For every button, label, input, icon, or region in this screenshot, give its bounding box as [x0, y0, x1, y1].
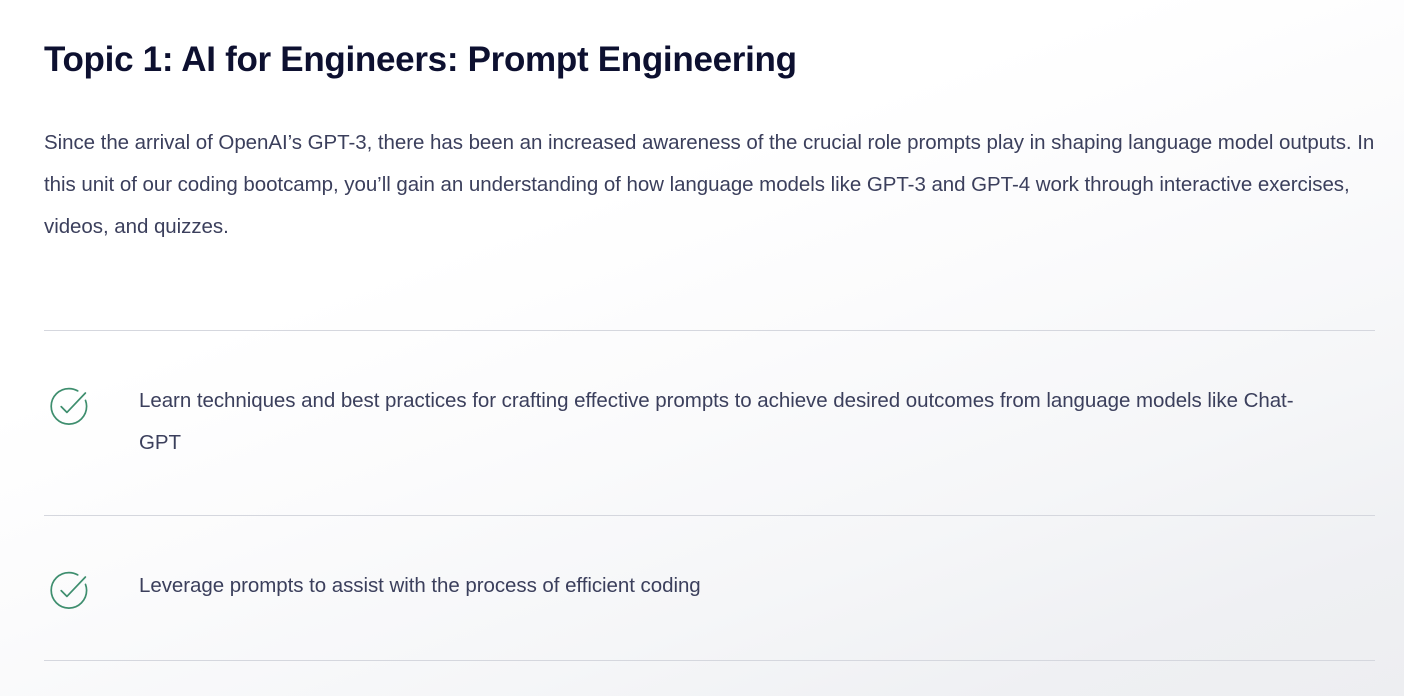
- divider-middle: [44, 515, 1375, 516]
- outcome-label: Leverage prompts to assist with the proc…: [139, 565, 1299, 607]
- check-circle-icon: [44, 382, 92, 430]
- topic-description: Since the arrival of OpenAI’s GPT-3, the…: [44, 122, 1379, 248]
- outcome-item-1: Learn techniques and best practices for …: [44, 380, 1375, 464]
- check-circle-icon: [44, 566, 92, 614]
- topic-panel: Topic 1: AI for Engineers: Prompt Engine…: [0, 0, 1404, 696]
- outcome-item-2: Leverage prompts to assist with the proc…: [44, 564, 1375, 614]
- divider-top: [44, 330, 1375, 331]
- outcome-label: Learn techniques and best practices for …: [139, 380, 1299, 464]
- divider-bottom: [44, 660, 1375, 661]
- page-title: Topic 1: AI for Engineers: Prompt Engine…: [44, 37, 797, 83]
